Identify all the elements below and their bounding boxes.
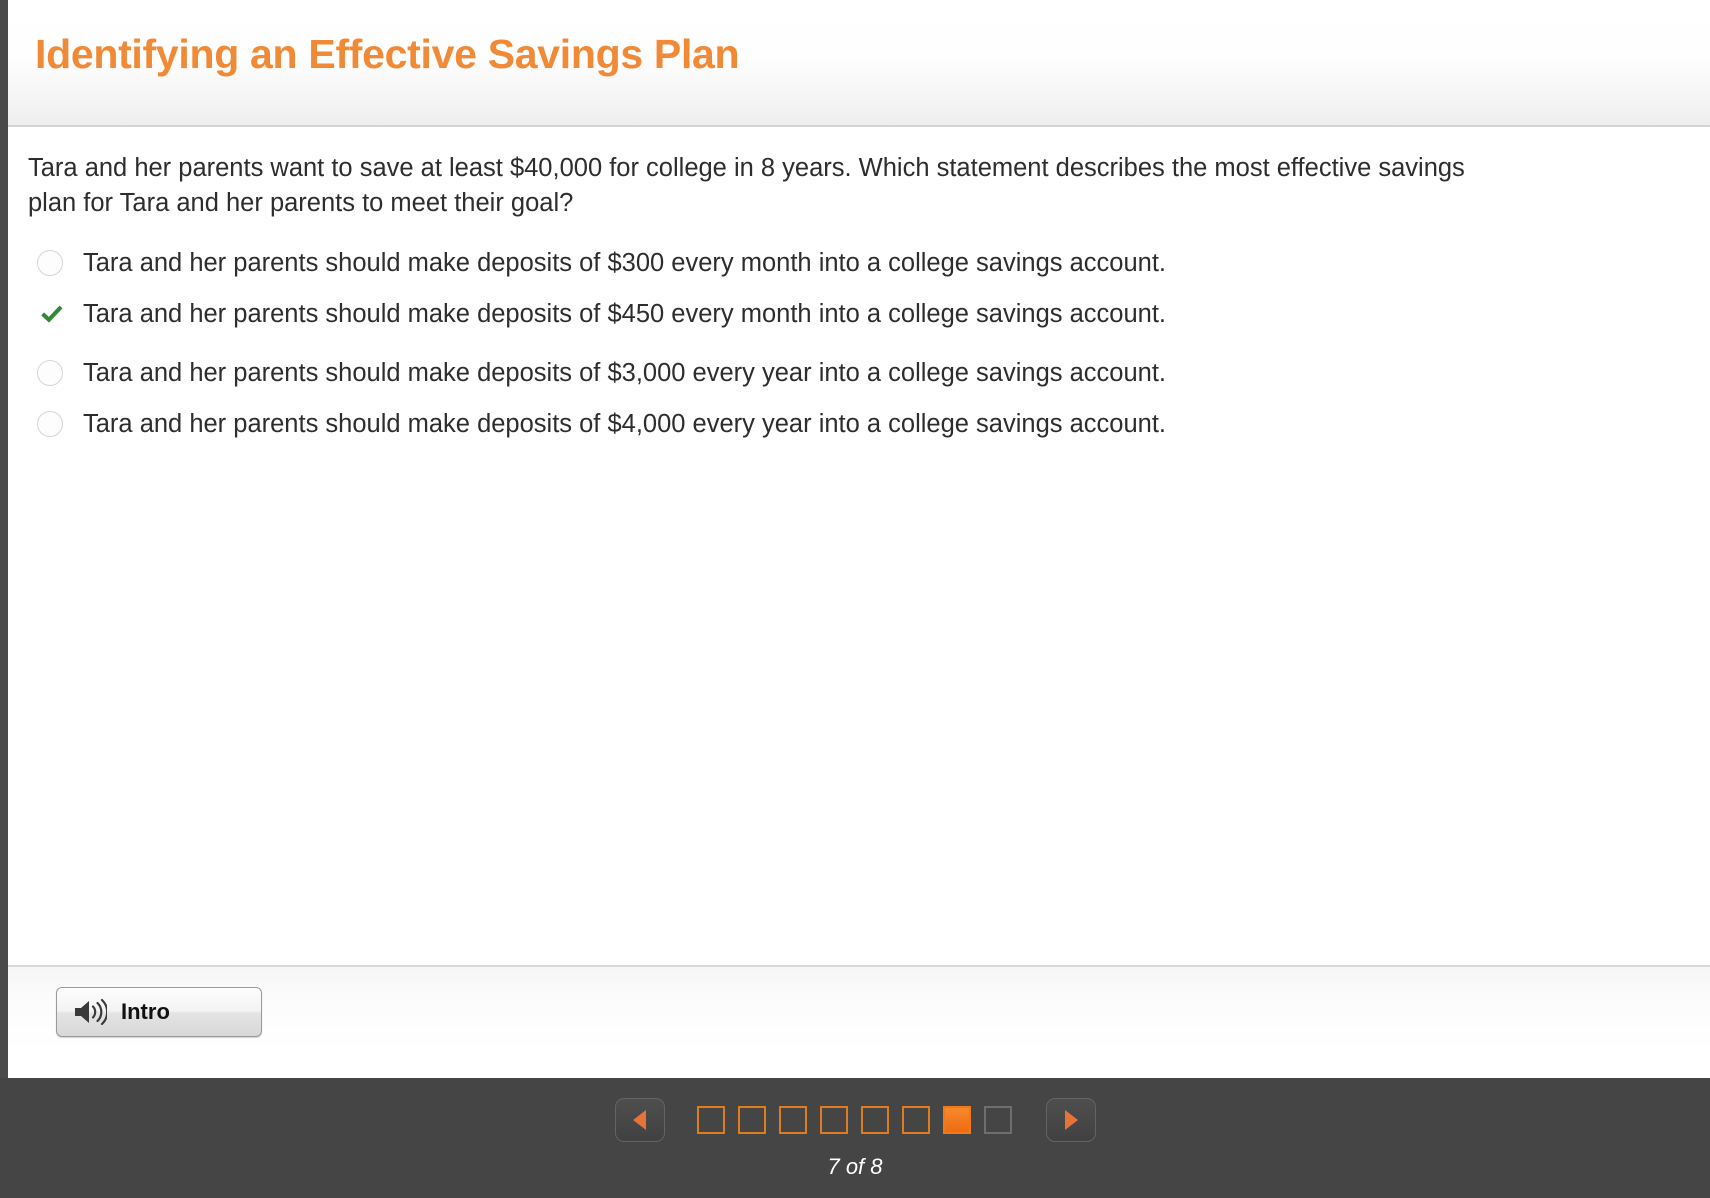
player-left-border xyxy=(0,0,8,1078)
answer-option-2-label: Tara and her parents should make deposit… xyxy=(72,299,1166,329)
radio-circle-icon[interactable] xyxy=(37,411,63,437)
answer-option-3[interactable]: Tara and her parents should make deposit… xyxy=(28,347,1478,398)
answer-option-3-label: Tara and her parents should make deposit… xyxy=(72,358,1166,388)
slide-dot-3[interactable] xyxy=(779,1106,807,1134)
slide-dot-5[interactable] xyxy=(861,1106,889,1134)
slide-dot-6[interactable] xyxy=(902,1106,930,1134)
radio-circle-icon[interactable] xyxy=(37,360,63,386)
answer-option-4[interactable]: Tara and her parents should make deposit… xyxy=(28,398,1478,449)
previous-slide-button[interactable] xyxy=(615,1098,665,1142)
triangle-right-icon xyxy=(1061,1109,1081,1131)
slide-navigation-bar: 7 of 8 xyxy=(0,1078,1710,1198)
speaker-volume-icon xyxy=(73,998,107,1026)
answer-option-3-marker[interactable] xyxy=(28,347,72,398)
audio-control-strip: Intro xyxy=(8,965,1710,1078)
slide-dot-2[interactable] xyxy=(738,1106,766,1134)
slide-dot-8[interactable] xyxy=(984,1106,1012,1134)
next-slide-button[interactable] xyxy=(1046,1098,1096,1142)
elearning-slide-player: Identifying an Effective Savings Plan Ta… xyxy=(0,0,1710,1198)
answer-option-1-marker[interactable] xyxy=(28,237,72,288)
answer-option-2-marker[interactable] xyxy=(28,288,72,339)
page-title: Identifying an Effective Savings Plan xyxy=(35,31,739,78)
slide-dots xyxy=(697,1106,1012,1134)
navigation-controls xyxy=(0,1098,1710,1142)
answer-option-1-label: Tara and her parents should make deposit… xyxy=(72,248,1166,278)
answer-option-1[interactable]: Tara and her parents should make deposit… xyxy=(28,237,1478,288)
slide-content: Tara and her parents want to save at lea… xyxy=(8,129,1710,965)
answer-option-2[interactable]: Tara and her parents should make deposit… xyxy=(28,288,1478,339)
slide-header: Identifying an Effective Savings Plan xyxy=(8,0,1710,127)
question-prompt: Tara and her parents want to save at lea… xyxy=(28,151,1468,221)
triangle-left-icon xyxy=(630,1109,650,1131)
intro-audio-button-label: Intro xyxy=(121,999,170,1025)
answer-options-list: Tara and her parents should make deposit… xyxy=(28,237,1478,449)
slide-dot-1[interactable] xyxy=(697,1106,725,1134)
intro-audio-button[interactable]: Intro xyxy=(56,987,262,1037)
answer-option-4-marker[interactable] xyxy=(28,398,72,449)
green-checkmark-icon xyxy=(37,299,67,329)
answer-option-4-label: Tara and her parents should make deposit… xyxy=(72,409,1166,439)
page-counter: 7 of 8 xyxy=(0,1154,1710,1180)
slide-dot-4[interactable] xyxy=(820,1106,848,1134)
radio-circle-icon[interactable] xyxy=(37,250,63,276)
slide-dot-7-current[interactable] xyxy=(943,1106,971,1134)
